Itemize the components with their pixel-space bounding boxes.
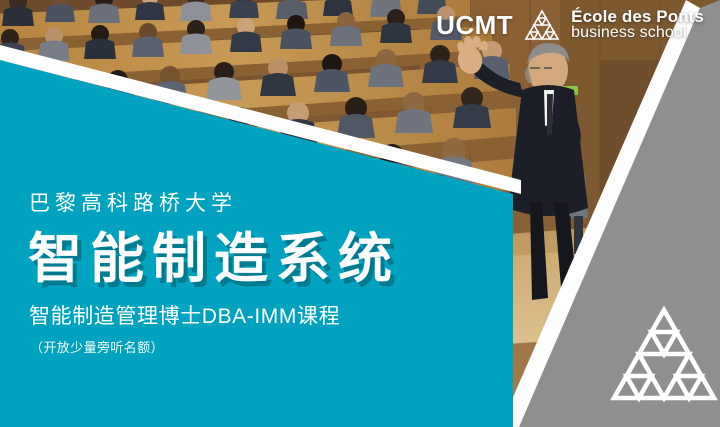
poster-copy: 巴黎高科路桥大学 智能制造系统 智能制造管理博士DBA-IMM课程 （开放少量旁… xyxy=(28,193,400,354)
kicker-text: 巴黎高科路桥大学 xyxy=(29,193,400,214)
page-title: 智能制造系统 xyxy=(28,232,400,286)
program-subtitle: 智能制造管理博士DBA-IMM课程 xyxy=(29,306,400,327)
partner-line-1: École des Ponts xyxy=(571,8,704,25)
brand-logo-bar: UCMT École des Ponts business school xyxy=(436,8,704,42)
ucmt-wordmark: UCMT xyxy=(436,12,513,38)
partner-line-2: business school xyxy=(571,25,704,41)
availability-note: （开放少量旁听名额） xyxy=(30,341,400,354)
promo-poster: UCMT École des Ponts business school 巴黎高… xyxy=(0,0,720,427)
partner-wordmark: École des Ponts business school xyxy=(571,8,704,42)
sierpinski-triangle-decoration xyxy=(610,306,718,402)
sierpinski-triangle-icon xyxy=(524,9,560,41)
